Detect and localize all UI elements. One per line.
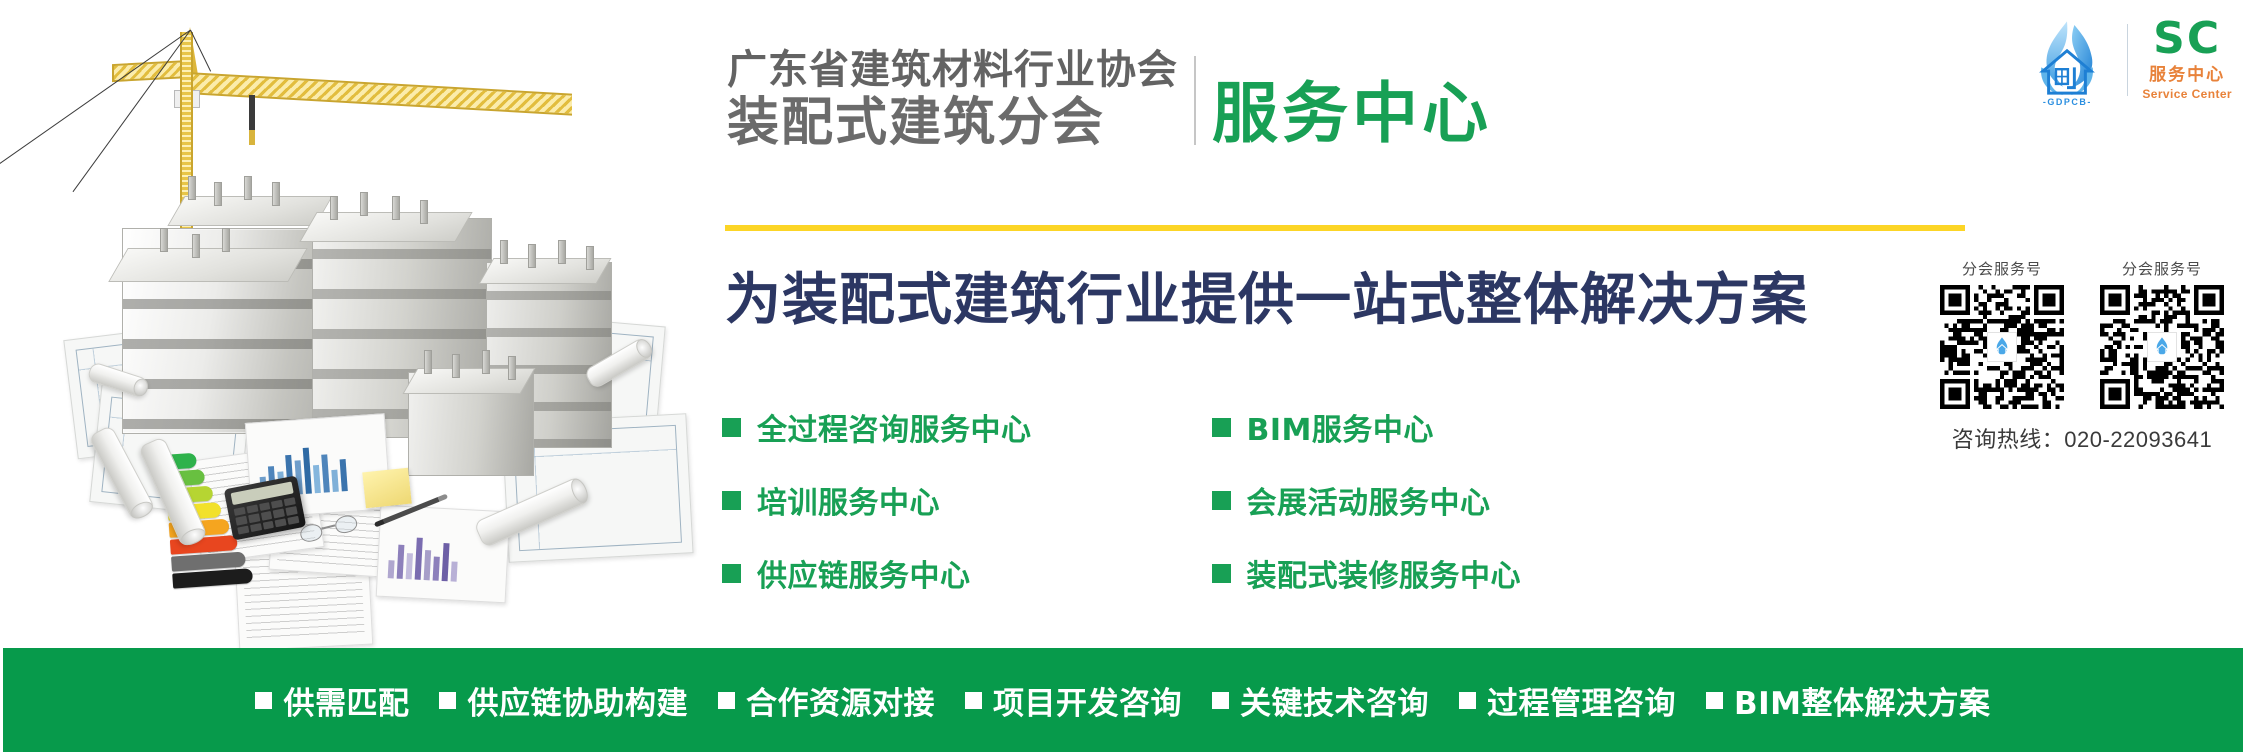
bullet-square-icon: [722, 418, 741, 437]
sticky-note: [362, 468, 412, 509]
bullet-square-icon: [1212, 491, 1231, 510]
footer-item-label: 关键技术咨询: [1240, 678, 1429, 723]
bullet-square-icon: [1459, 692, 1476, 709]
org-name-line-2: 装配式建筑分会: [727, 95, 1178, 151]
footer-item[interactable]: 关键技术咨询: [1212, 678, 1429, 723]
sc-english-label: Service Center: [2142, 87, 2232, 103]
org-name-line-1: 广东省建筑材料行业协会: [727, 48, 1178, 93]
bullet-square-icon: [1212, 564, 1231, 583]
qr-center-logo: [2147, 332, 2177, 362]
footer-item-label: BIM整体解决方案: [1734, 678, 1991, 723]
bullet-square-icon: [1212, 692, 1229, 709]
footer-item[interactable]: BIM整体解决方案: [1706, 678, 1991, 723]
banner-root: 广东省建筑材料行业协会 装配式建筑分会 服务中心: [0, 0, 2246, 752]
bullet-square-icon: [965, 692, 982, 709]
bullet-square-icon: [722, 491, 741, 510]
qr-center-logo: [1987, 332, 2017, 362]
service-center-lists: 全过程咨询服务中心 培训服务中心 供应链服务中心 BIM服务中心: [722, 405, 1521, 595]
content-area: 广东省建筑材料行业协会 装配式建筑分会 服务中心: [700, 0, 2246, 648]
qr-caption: 分会服务号: [2122, 258, 2202, 279]
service-item-label: 装配式装修服务中心: [1247, 551, 1522, 595]
sc-logo: SC 服务中心 Service Center: [2142, 17, 2232, 102]
qr-code-image[interactable]: [2100, 285, 2224, 409]
service-item-label: 会展活动服务中心: [1247, 478, 1491, 522]
flame-house-icon: [2150, 335, 2174, 359]
service-item[interactable]: 装配式装修服务中心: [1212, 551, 1522, 595]
mini-bar-chart: [388, 532, 459, 582]
qr-code-image[interactable]: [1940, 285, 2064, 409]
service-item-label: 培训服务中心: [757, 478, 940, 522]
bullet-square-icon: [255, 692, 272, 709]
service-column-right: BIM服务中心 会展活动服务中心 装配式装修服务中心: [1212, 405, 1522, 595]
footer-capability-bar: 供需匹配 供应链协助构建 合作资源对接 项目开发咨询 关键技术咨询 过程管理咨询…: [0, 648, 2246, 752]
footer-item-label: 供应链协助构建: [467, 678, 688, 723]
footer-item[interactable]: 供应链协助构建: [439, 678, 688, 723]
title-vertical-divider: [1194, 56, 1196, 145]
logo-divider: [2127, 24, 2128, 96]
flame-house-icon: [2021, 14, 2113, 106]
footer-item-label: 供需匹配: [283, 678, 409, 723]
sc-letters: SC: [2153, 17, 2221, 61]
sc-chinese-label: 服务中心: [2149, 63, 2225, 87]
hero-construction-image: [0, 0, 700, 648]
footer-item[interactable]: 项目开发咨询: [965, 678, 1182, 723]
headline: 为装配式建筑行业提供一站式整体解决方案: [725, 255, 1808, 336]
footer-item-label: 合作资源对接: [746, 678, 935, 723]
qr-cell: 分会服务号: [1940, 258, 2064, 409]
service-item-label: 供应链服务中心: [757, 551, 971, 595]
footer-item[interactable]: 供需匹配: [255, 678, 409, 723]
service-center-title: 服务中心: [1212, 81, 1492, 151]
bullet-square-icon: [1706, 692, 1723, 709]
brand-logos: -GDPCB- SC 服务中心 Service Center: [2021, 14, 2232, 106]
flame-house-icon: [1990, 335, 2014, 359]
organization-title-block: 广东省建筑材料行业协会 装配式建筑分会 服务中心: [727, 48, 1492, 151]
service-item-label: BIM服务中心: [1247, 405, 1434, 449]
service-item[interactable]: 培训服务中心: [722, 478, 1032, 522]
footer-item-label: 过程管理咨询: [1487, 678, 1676, 723]
bullet-square-icon: [439, 692, 456, 709]
qr-code-block: 分会服务号 分会服务号: [1940, 258, 2224, 454]
gdpcb-logo: -GDPCB-: [2021, 14, 2113, 106]
service-item[interactable]: 全过程咨询服务中心: [722, 405, 1032, 449]
qr-cell: 分会服务号: [2100, 258, 2224, 409]
service-item[interactable]: BIM服务中心: [1212, 405, 1522, 449]
gdpcb-mark-label: -GDPCB-: [2021, 97, 2113, 107]
service-item[interactable]: 会展活动服务中心: [1212, 478, 1522, 522]
bullet-square-icon: [718, 692, 735, 709]
footer-item[interactable]: 合作资源对接: [718, 678, 935, 723]
bullet-square-icon: [722, 564, 741, 583]
qr-caption: 分会服务号: [1962, 258, 2042, 279]
footer-item[interactable]: 过程管理咨询: [1459, 678, 1676, 723]
service-item-label: 全过程咨询服务中心: [757, 405, 1032, 449]
service-item[interactable]: 供应链服务中心: [722, 551, 1032, 595]
yellow-divider-rule: [725, 225, 1965, 231]
hotline-text: 咨询热线：020-22093641: [1952, 422, 2212, 454]
footer-item-label: 项目开发咨询: [993, 678, 1182, 723]
bullet-square-icon: [1212, 418, 1231, 437]
service-column-left: 全过程咨询服务中心 培训服务中心 供应链服务中心: [722, 405, 1032, 595]
